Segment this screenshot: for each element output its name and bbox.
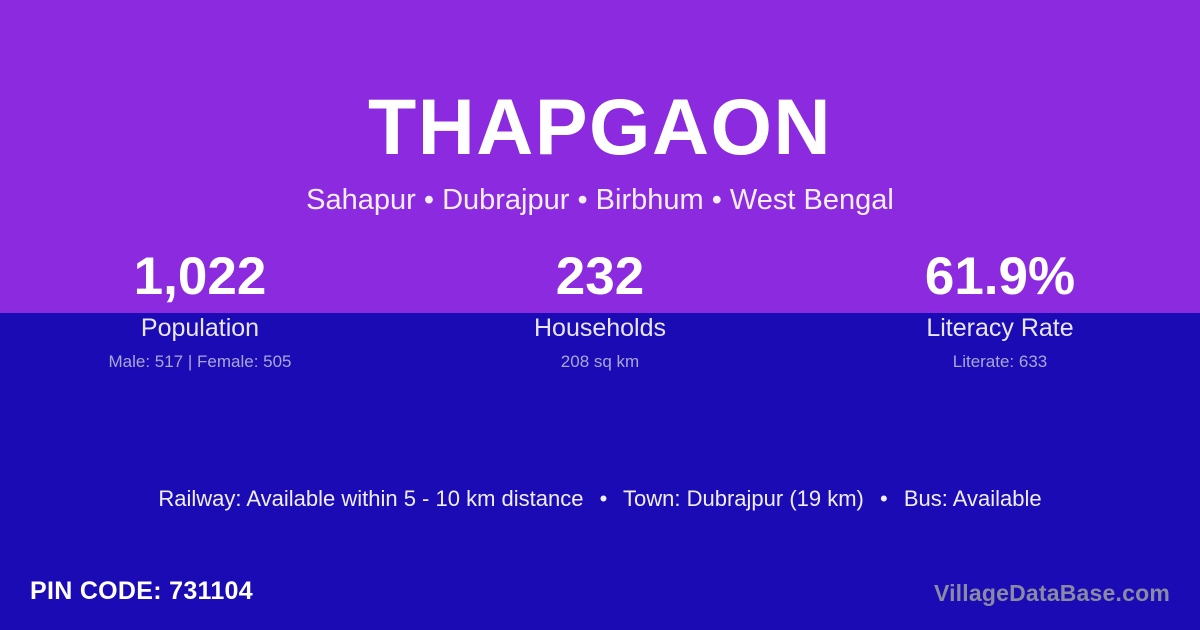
pin-code: PIN CODE: 731104 — [30, 575, 253, 607]
stat-label: Population — [0, 313, 400, 343]
infrastructure-town: Town: Dubrajpur (19 km) — [623, 486, 864, 511]
stat-literacy-rate: 61.9% Literacy Rate Literate: 633 — [800, 246, 1200, 372]
stat-sublabel: Literate: 633 — [800, 351, 1200, 372]
page-title: THAPGAON — [0, 82, 1200, 172]
footer: PIN CODE: 731104 VillageDataBase.com — [0, 568, 1200, 630]
breadcrumb: Sahapur • Dubrajpur • Birbhum • West Ben… — [0, 181, 1200, 219]
site-branding: VillageDataBase.com — [934, 578, 1170, 608]
stat-label: Literacy Rate — [800, 313, 1200, 343]
stats-row: 1,022 Population Male: 517 | Female: 505… — [0, 246, 1200, 372]
bullet-separator-icon: • — [590, 484, 618, 514]
infrastructure-bus: Bus: Available — [904, 486, 1042, 511]
stat-label: Households — [400, 313, 800, 343]
stat-households: 232 Households 208 sq km — [400, 246, 800, 372]
stat-value: 1,022 — [0, 246, 400, 308]
stat-sublabel: Male: 517 | Female: 505 — [0, 351, 400, 372]
bullet-separator-icon: • — [870, 484, 898, 514]
stat-value: 232 — [400, 246, 800, 308]
stat-sublabel: 208 sq km — [400, 351, 800, 372]
stat-value: 61.9% — [800, 246, 1200, 308]
infrastructure-railway: Railway: Available within 5 - 10 km dist… — [158, 486, 583, 511]
infrastructure-line: Railway: Available within 5 - 10 km dist… — [0, 484, 1200, 514]
stat-population: 1,022 Population Male: 517 | Female: 505 — [0, 246, 400, 372]
village-info-card: THAPGAON Sahapur • Dubrajpur • Birbhum •… — [0, 0, 1200, 630]
